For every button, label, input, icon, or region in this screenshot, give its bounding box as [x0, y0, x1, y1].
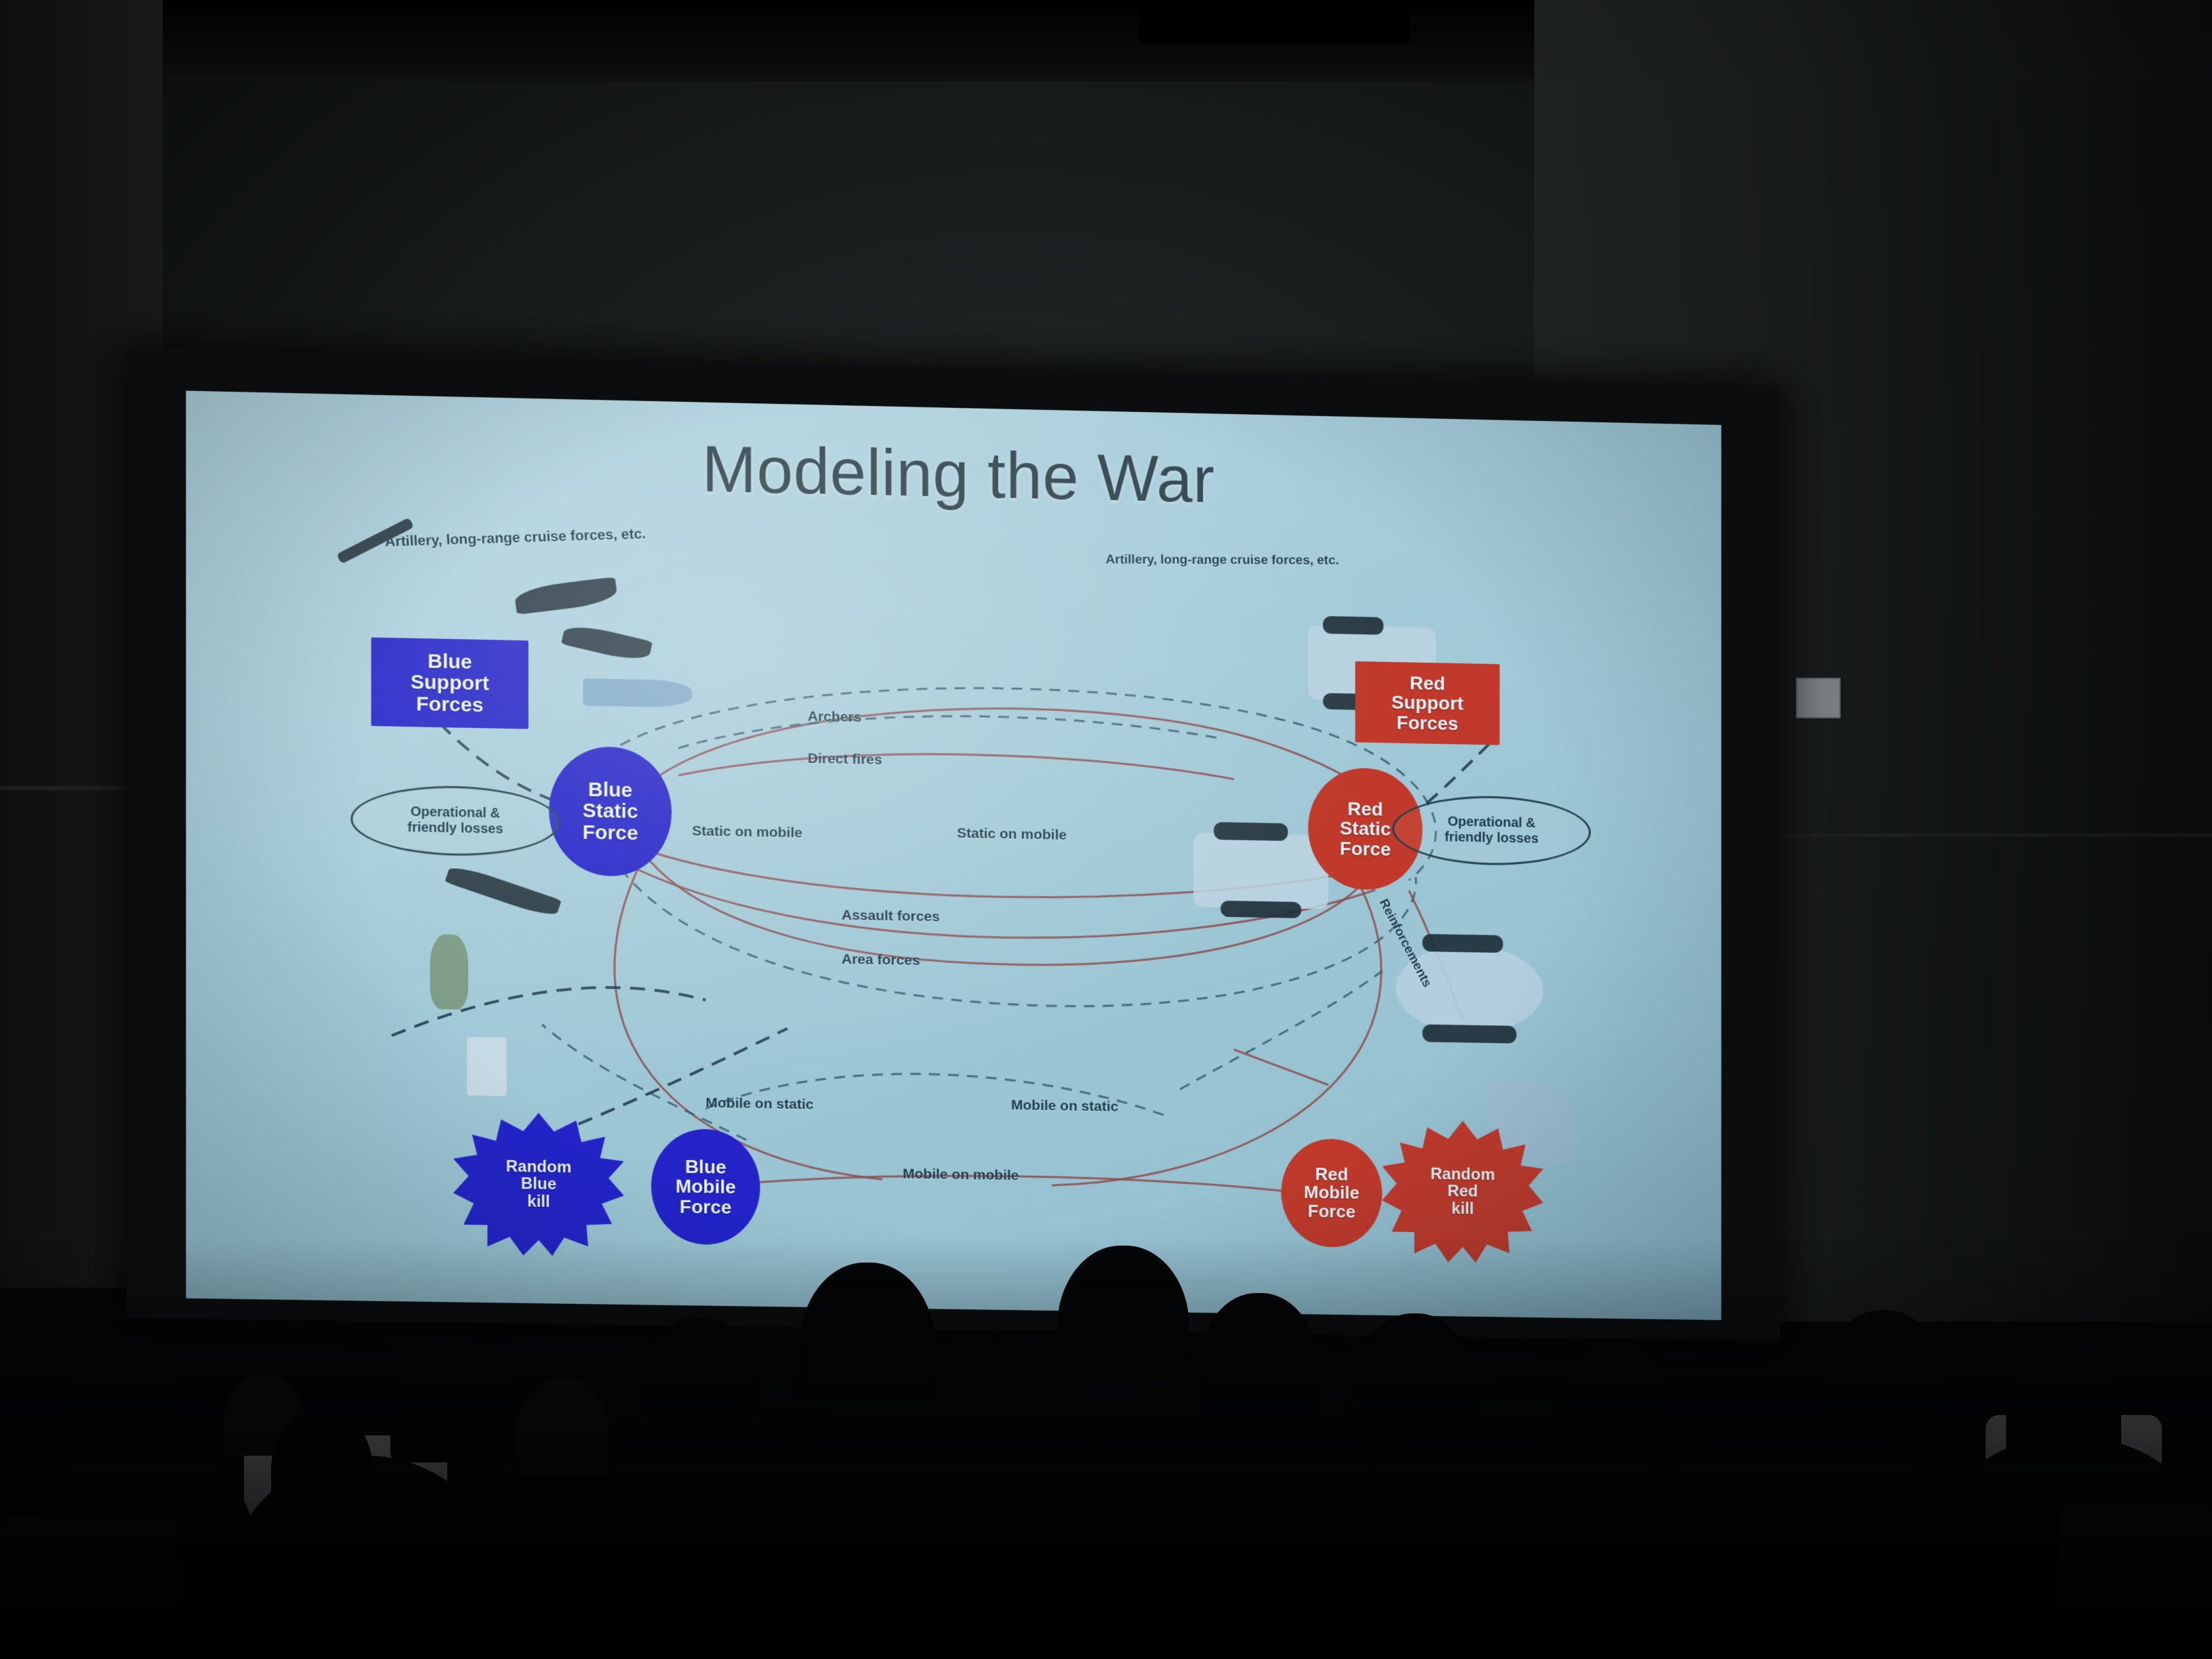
slide: Modeling the War: [186, 391, 1721, 1320]
label-mobile-on-static-right: Mobile on static: [1011, 1097, 1118, 1115]
clipart-tree-cluster: [430, 934, 468, 1009]
light-patch-shirt-b: [596, 1490, 752, 1659]
diagram-canvas: Blue Support Forces Red Support Forces B…: [268, 515, 1643, 1298]
node-blue-support-forces[interactable]: Blue Support Forces: [371, 638, 529, 729]
audience-head-2: [224, 1374, 305, 1456]
light-patch-shirt-a: [244, 1435, 447, 1659]
label-mobile-on-static-left: Mobile on static: [705, 1095, 813, 1113]
clipart-ship-left: [583, 678, 692, 708]
clipart-vehicle-track-a: [1323, 616, 1383, 635]
node-random-red-kill-label: Random Red kill: [1431, 1166, 1495, 1218]
audience-head-4: [390, 1334, 512, 1462]
node-blue-mobile-force[interactable]: Blue Mobile Force: [651, 1128, 760, 1246]
node-red-support-forces-label: Red Support Forces: [1391, 673, 1463, 734]
clipart-vehicle-track-e: [1422, 934, 1503, 953]
audience-shoulders-b: [224, 1456, 508, 1659]
projector-screen: Modeling the War: [186, 391, 1721, 1320]
node-blue-mobile-force-label: Blue Mobile Force: [676, 1156, 736, 1217]
audience-head-10: [1559, 1340, 1671, 1456]
clipart-building-left: [467, 1037, 506, 1096]
node-random-blue-kill-label: Random Blue kill: [506, 1158, 571, 1210]
seat-back-right: [2060, 1503, 2212, 1659]
label-artillery-right: Artillery, long-range cruise forces, etc…: [1105, 553, 1339, 569]
label-direct-fires: Direct fires: [808, 751, 882, 769]
audience-shoulders-h: [1911, 1435, 2212, 1659]
exit-sign: [1796, 678, 1841, 718]
seat-back-left: [0, 1517, 176, 1659]
light-patch-shirt-c: [1986, 1415, 2162, 1578]
node-blue-static-force-label: Blue Static Force: [582, 779, 638, 844]
label-area-forces: Area forces: [842, 951, 920, 969]
wall-seam-right: [1708, 834, 2212, 837]
audience-head-13: [515, 1378, 610, 1476]
node-blue-support-forces-label: Blue Support Forces: [411, 651, 489, 716]
node-red-mobile-force-label: Red Mobile Force: [1304, 1165, 1359, 1221]
audience-head-5: [644, 1317, 756, 1435]
light-patch-shirt-d: [1613, 1537, 1748, 1659]
audience-shoulders-d: [779, 1340, 1159, 1659]
audience-shoulders-c: [474, 1374, 827, 1659]
audience-shoulders-g: [1626, 1415, 1965, 1659]
label-archers: Archers: [808, 709, 862, 726]
node-red-mobile-force[interactable]: Red Mobile Force: [1281, 1138, 1382, 1248]
audience-shoulders-e: [1057, 1361, 1410, 1659]
slide-title: Modeling the War: [186, 421, 1721, 529]
projector-screen-frame: Modeling the War: [127, 348, 1780, 1341]
label-assault-forces: Assault forces: [842, 907, 940, 926]
audience-head-3: [271, 1408, 373, 1510]
label-mobile-on-mobile: Mobile on mobile: [903, 1166, 1019, 1185]
note-op-losses-right-label: Operational & friendly losses: [1445, 814, 1539, 846]
audience-shoulders-a: [20, 1429, 264, 1659]
clipart-vehicle-track-c: [1214, 822, 1288, 841]
screenshot-root: Modeling the War: [0, 0, 2212, 1659]
audience-head-12: [2006, 1344, 2121, 1462]
clipart-vehicles-center-right: [1193, 832, 1328, 909]
audience-head-1: [65, 1334, 184, 1456]
node-red-support-forces[interactable]: Red Support Forces: [1355, 661, 1500, 745]
label-static-on-mobile-right: Static on mobile: [957, 825, 1067, 844]
audience-head-11: [1823, 1310, 1945, 1435]
audience-shoulders-f: [1342, 1395, 1694, 1659]
note-op-losses-left-label: Operational & friendly losses: [407, 804, 503, 838]
node-red-static-force-label: Red Static Force: [1340, 798, 1391, 859]
clipart-vehicle-track-f: [1422, 1024, 1517, 1043]
ceiling-vent: [1139, 0, 1410, 43]
clipart-vehicle-track-d: [1221, 901, 1301, 918]
label-static-on-mobile-left: Static on mobile: [692, 823, 802, 842]
